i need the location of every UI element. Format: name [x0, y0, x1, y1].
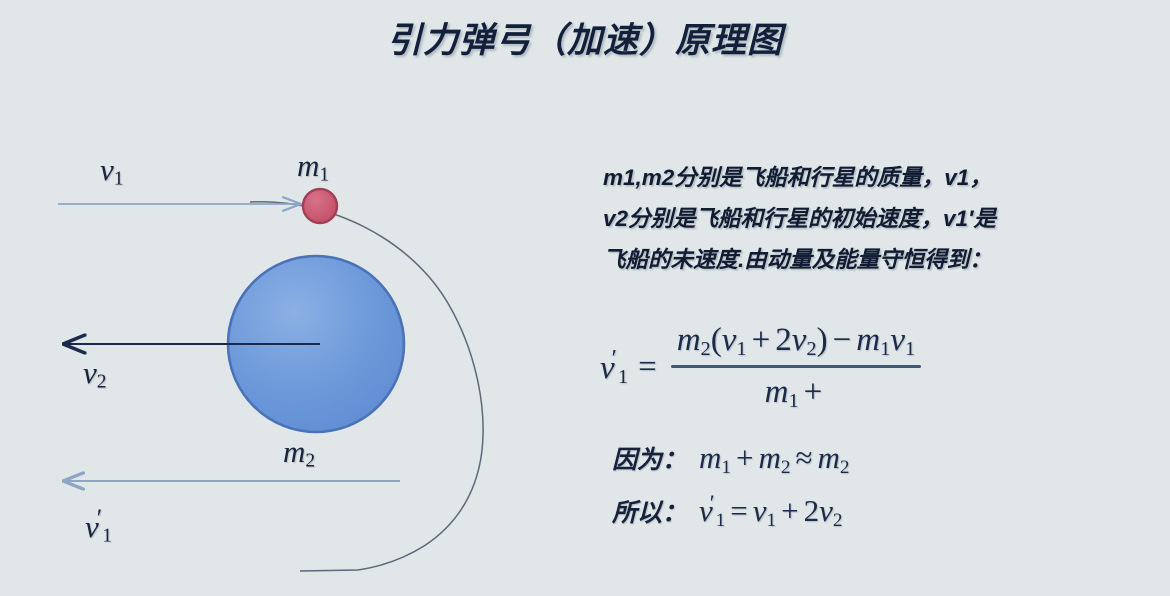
fraction-numerator: m2(v1+2v2)−m1v1	[671, 322, 922, 365]
label-m2: m2	[283, 434, 315, 472]
because-expression: m1+m2≈m2	[699, 440, 850, 479]
spacecraft-circle	[303, 189, 337, 223]
explanation-line-1: m1,m2分别是飞船和行星的质量，v1，	[603, 157, 1123, 198]
slingshot-principle-figure: 引力弹弓（加速）原理图	[0, 0, 1170, 596]
because-prefix: 因为：	[612, 440, 687, 476]
therefore-prefix: 所以：	[612, 493, 687, 529]
explanation-line-3: 飞船的未速度.由动量及能量守恒得到：	[603, 239, 1123, 280]
explanation-line-2: v2分别是飞船和行星的初始速度，v1′是	[603, 198, 1123, 239]
diagram-canvas	[0, 90, 560, 590]
label-v1: v1	[100, 152, 124, 190]
therefore-line: 所以： v′1=v1+2v2	[612, 490, 843, 532]
label-v2: v2	[83, 355, 107, 393]
label-m1: m1	[297, 148, 329, 186]
equals-sign: =	[638, 349, 657, 386]
formula-lhs: v′1	[600, 346, 628, 389]
main-formula: v′1 = m2(v1+2v2)−m1v1 m1+	[600, 322, 921, 413]
explanation-text: m1,m2分别是飞船和行星的质量，v1， v2分别是飞船和行星的初始速度，v1′…	[603, 157, 1123, 280]
page-title: 引力弹弓（加速）原理图	[0, 12, 1170, 63]
fraction: m2(v1+2v2)−m1v1 m1+	[671, 322, 922, 413]
because-line: 因为： m1+m2≈m2	[612, 440, 850, 479]
therefore-expression: v′1=v1+2v2	[699, 490, 842, 532]
label-v1-prime: v′1	[85, 505, 112, 547]
fraction-denominator: m1+	[759, 368, 834, 413]
